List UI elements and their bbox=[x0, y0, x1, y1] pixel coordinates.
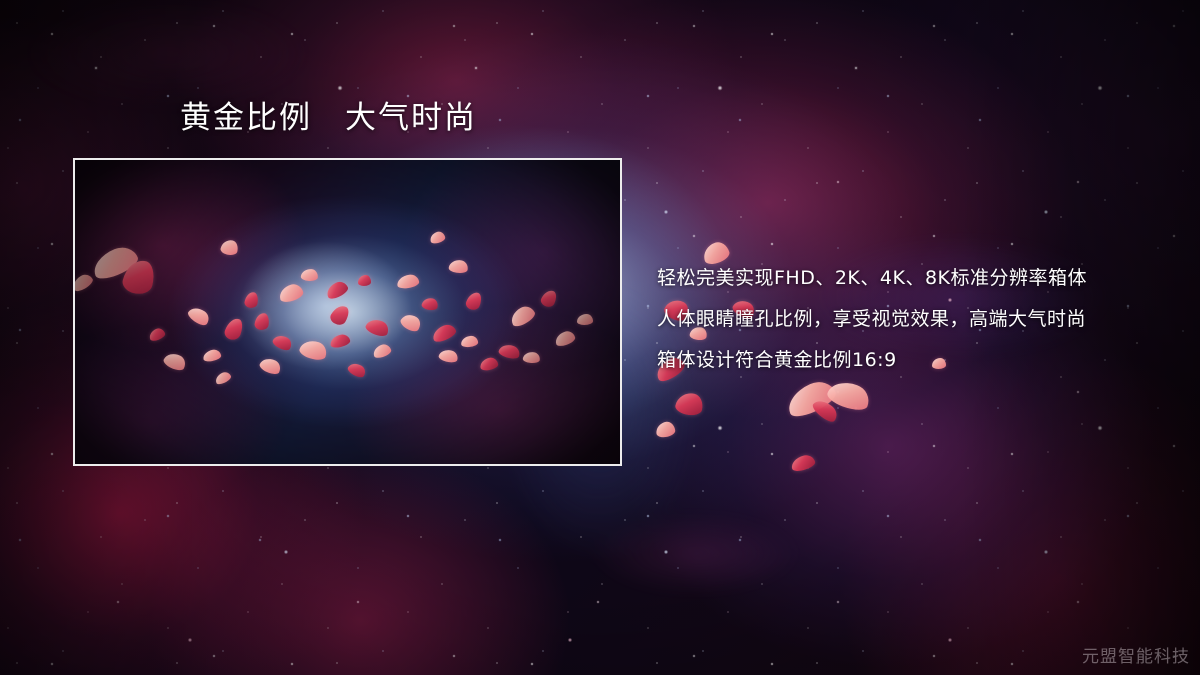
watermark: 元盟智能科技 bbox=[1082, 642, 1190, 667]
page-title: 黄金比例 大气时尚 bbox=[180, 101, 477, 135]
panel-vignette bbox=[75, 160, 620, 464]
body-copy: 轻松完美实现FHD、2K、4K、8K标准分辨率箱体 人体眼睛瞳孔比例，享受视觉效… bbox=[657, 258, 1177, 381]
body-line-1: 轻松完美实现FHD、2K、4K、8K标准分辨率箱体 bbox=[657, 258, 1177, 299]
body-line-3: 箱体设计符合黄金比例16:9 bbox=[657, 340, 1177, 381]
image-frame-panel bbox=[73, 158, 622, 466]
body-line-2: 人体眼睛瞳孔比例，享受视觉效果，高端大气时尚 bbox=[657, 299, 1177, 340]
slide-canvas: 黄金比例 大气时尚 轻松完美实现FHD、2K、4K、8K标准分辨率箱体 人体眼睛… bbox=[0, 0, 1200, 675]
